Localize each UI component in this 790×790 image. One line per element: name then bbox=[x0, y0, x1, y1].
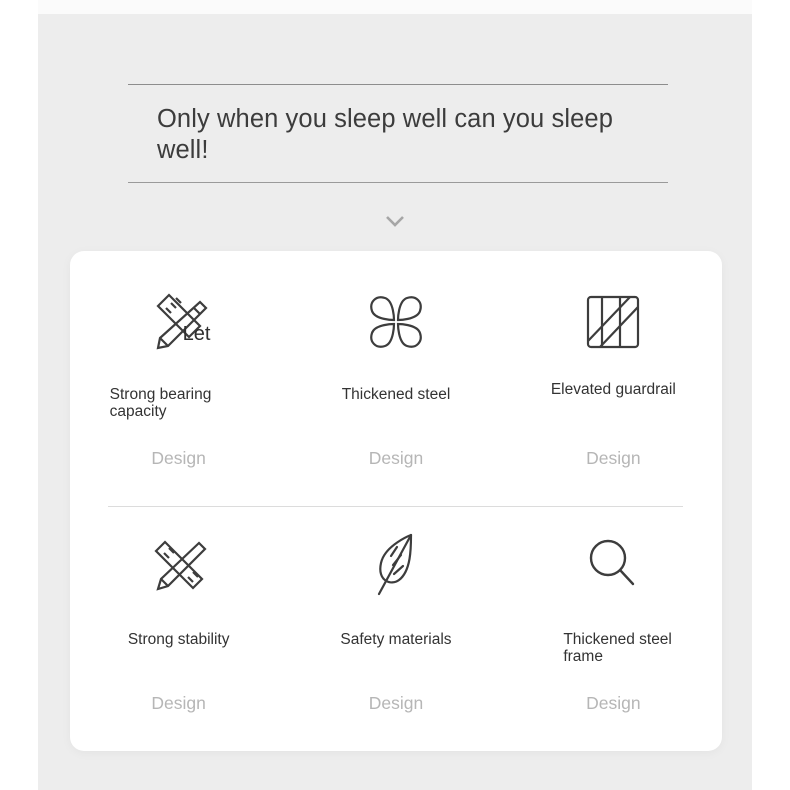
stray-overlay-text: Let bbox=[183, 324, 211, 344]
feature-subtitle: Design bbox=[70, 693, 287, 714]
crossed-rulers-icon bbox=[142, 529, 216, 601]
icon-container bbox=[580, 286, 646, 358]
chevron-down-button[interactable] bbox=[38, 204, 752, 238]
ruler-pencil-icon bbox=[142, 286, 216, 358]
feature-title: Thickened steel bbox=[321, 386, 471, 403]
feature-item-strong-bearing-capacity[interactable]: Let Strong bearing capacity Design bbox=[70, 251, 287, 501]
leaf-icon bbox=[363, 528, 429, 602]
feature-row: Strong stability Design bbox=[70, 501, 722, 751]
chevron-down-icon bbox=[378, 204, 412, 238]
content-canvas: Only when you sleep well can you sleep w… bbox=[38, 14, 752, 790]
icon-container: Let bbox=[142, 286, 216, 358]
feature-item-thickened-steel[interactable]: Thickened steel Design bbox=[287, 251, 504, 501]
feature-item-thickened-steel-frame[interactable]: Thickened steel frame Design bbox=[505, 501, 722, 751]
feature-title: Strong bearing capacity bbox=[110, 386, 242, 420]
feature-title: Thickened steel frame bbox=[563, 631, 673, 665]
feature-subtitle: Design bbox=[505, 693, 722, 714]
feature-title: Strong stability bbox=[104, 631, 254, 648]
feature-subtitle: Design bbox=[505, 448, 722, 469]
top-white-strip bbox=[38, 0, 752, 14]
page-title: Only when you sleep well can you sleep w… bbox=[128, 85, 668, 182]
page-root: Only when you sleep well can you sleep w… bbox=[0, 0, 790, 790]
heading-rule-bottom bbox=[128, 182, 668, 183]
guardrail-square-icon bbox=[580, 289, 646, 355]
feature-subtitle: Design bbox=[287, 448, 504, 469]
icon-container bbox=[581, 529, 645, 601]
icon-container bbox=[361, 286, 431, 358]
feature-title: Elevated guardrail bbox=[538, 381, 688, 398]
feature-item-strong-stability[interactable]: Strong stability Design bbox=[70, 501, 287, 751]
heading-block: Only when you sleep well can you sleep w… bbox=[128, 84, 668, 183]
feature-subtitle: Design bbox=[287, 693, 504, 714]
icon-container bbox=[142, 529, 216, 601]
icon-container bbox=[363, 529, 429, 601]
feature-title: Safety materials bbox=[321, 631, 471, 648]
feature-row: Let Strong bearing capacity Design bbox=[70, 251, 722, 501]
magnifier-icon bbox=[581, 532, 645, 598]
four-petal-clover-icon bbox=[361, 287, 431, 357]
feature-item-safety-materials[interactable]: Safety materials Design bbox=[287, 501, 504, 751]
feature-subtitle: Design bbox=[70, 448, 287, 469]
feature-item-elevated-guardrail[interactable]: Elevated guardrail Design bbox=[505, 251, 722, 501]
feature-card: Let Strong bearing capacity Design bbox=[70, 251, 722, 751]
